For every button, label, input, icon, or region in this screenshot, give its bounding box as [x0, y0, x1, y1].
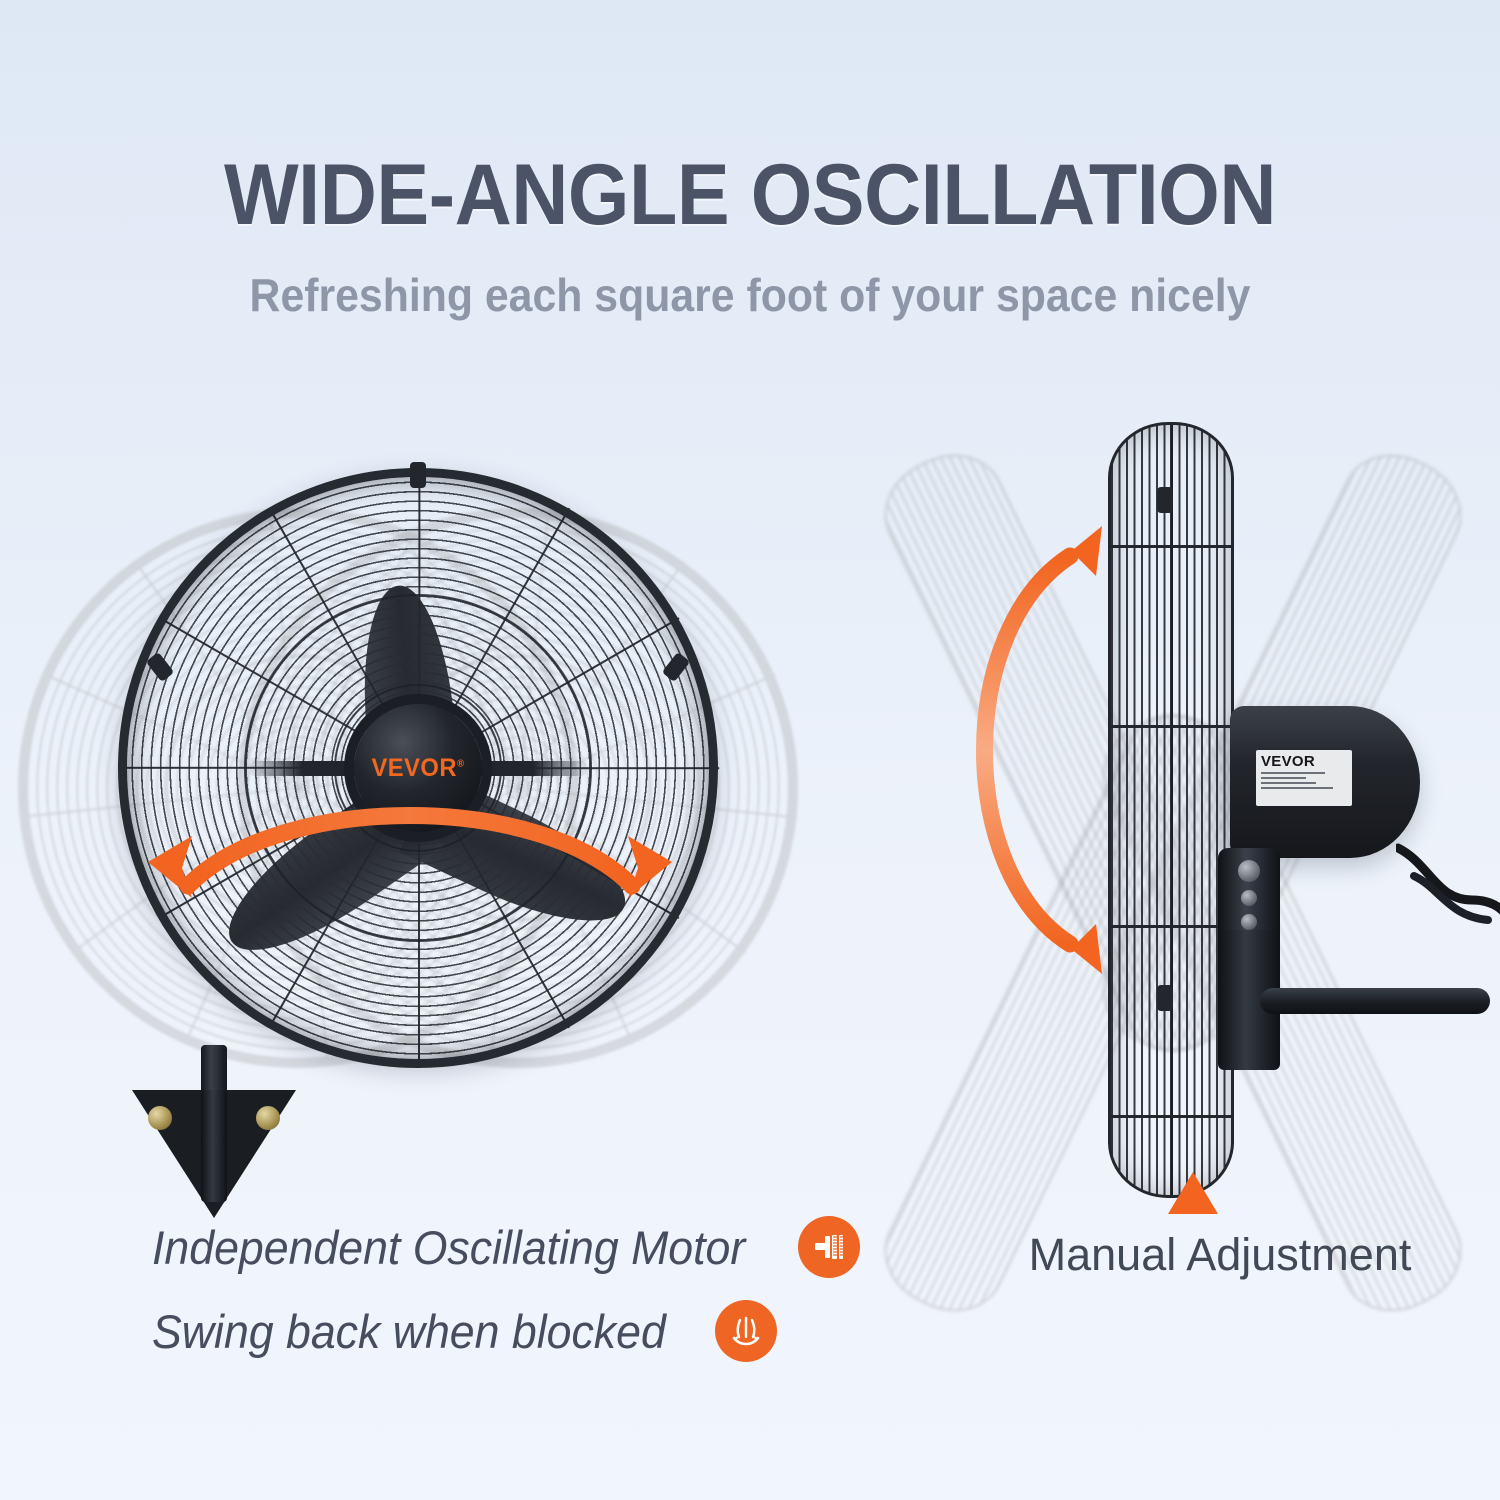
side-view-panel: VEVOR — [930, 390, 1490, 1220]
page-subtitle: Refreshing each square foot of your spac… — [53, 272, 1448, 318]
tilt-screw[interactable] — [1238, 860, 1260, 882]
tilt-screw[interactable] — [1241, 914, 1257, 930]
registered-mark: ® — [457, 758, 464, 769]
wall-mount-bracket — [132, 1090, 296, 1218]
spec-label-lines — [1261, 772, 1347, 789]
vevor-logo-text: VEVOR — [371, 754, 457, 782]
vertical-tilt-arrow — [920, 500, 1180, 1000]
feature-label: Swing back when blocked — [152, 1308, 666, 1355]
fan-front-view: VEVOR® — [118, 468, 718, 1068]
product-feature-banner: WIDE-ANGLE OSCILLATION Refreshing each s… — [0, 0, 1500, 1500]
bracket-bolt-right — [256, 1106, 280, 1130]
manual-adjustment-label: Manual Adjustment — [1000, 1232, 1440, 1277]
vevor-logo: VEVOR® — [371, 754, 464, 783]
front-view-panel: VEVOR® — [10, 390, 800, 1220]
mount-arm — [1260, 988, 1490, 1014]
grille-band — [1108, 1115, 1234, 1118]
grille-clip — [410, 462, 426, 488]
motor-housing: VEVOR — [1230, 706, 1420, 858]
feature-oscillating-motor: Independent Oscillating Motor — [152, 1216, 860, 1278]
bracket-bolt-left — [148, 1106, 172, 1130]
bracket-stem — [201, 1090, 227, 1202]
oscillating-motor-icon — [798, 1216, 860, 1278]
page-title: WIDE-ANGLE OSCILLATION — [60, 152, 1440, 238]
feature-swing-back: Swing back when blocked — [152, 1300, 777, 1362]
swing-back-icon — [715, 1300, 777, 1362]
spec-label-brand: VEVOR — [1261, 754, 1347, 769]
feature-label: Independent Oscillating Motor — [152, 1224, 745, 1271]
manual-adjustment-pointer — [1168, 1172, 1218, 1214]
tilt-screw[interactable] — [1241, 890, 1257, 906]
power-cord — [1396, 842, 1500, 932]
horizontal-oscillation-arrow — [130, 790, 690, 950]
spec-label: VEVOR — [1256, 750, 1352, 806]
